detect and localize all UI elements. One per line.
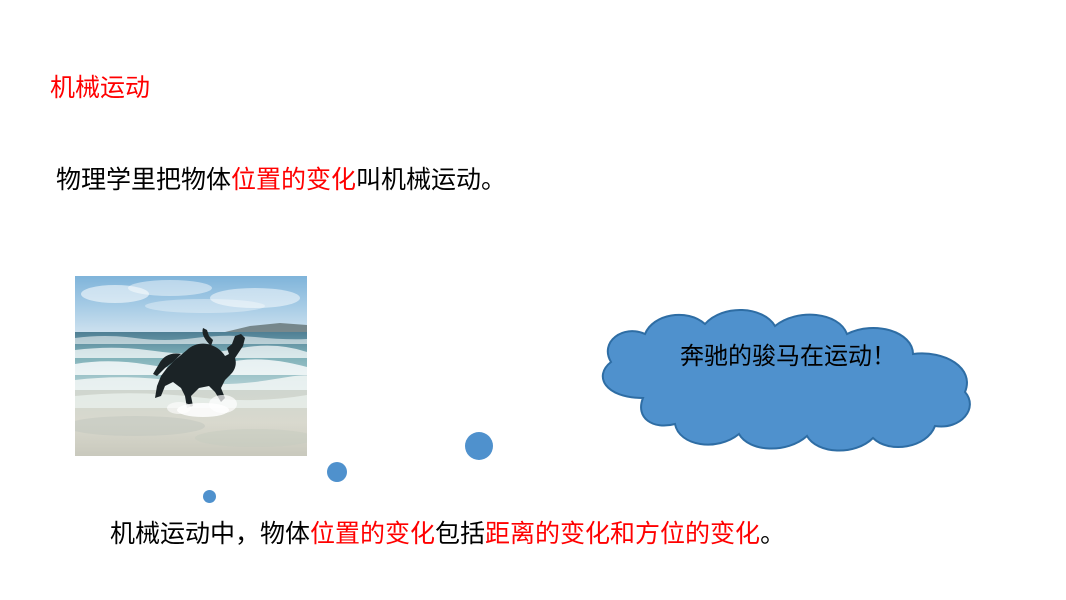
definition-line: 物理学里把物体位置的变化叫机械运动。 [56,164,506,196]
bottom-part3: 。 [760,520,785,548]
definition-part1: 物理学里把物体 [56,166,231,194]
bottom-sentence: 机械运动中，物体位置的变化包括距离的变化和方位的变化。 [110,518,785,550]
definition-highlight: 位置的变化 [231,166,356,194]
bubble-dot-medium [327,462,347,482]
definition-part2: 叫机械运动。 [356,166,506,194]
thought-cloud-shape [583,306,983,456]
slide-canvas: 机械运动 物理学里把物体位置的变化叫机械运动。 [0,0,1066,600]
bottom-highlight1: 位置的变化 [310,520,435,548]
bubble-dot-small [203,490,216,503]
page-title: 机械运动 [50,73,150,103]
thought-cloud-text: 奔驰的骏马在运动！ [640,340,940,374]
bubble-dot-large [465,432,493,460]
bottom-part1: 机械运动中，物体 [110,520,310,548]
horse-beach-photo [75,276,307,456]
bottom-part2: 包括 [435,520,485,548]
bottom-highlight2: 距离的变化和方位的变化 [485,520,760,548]
